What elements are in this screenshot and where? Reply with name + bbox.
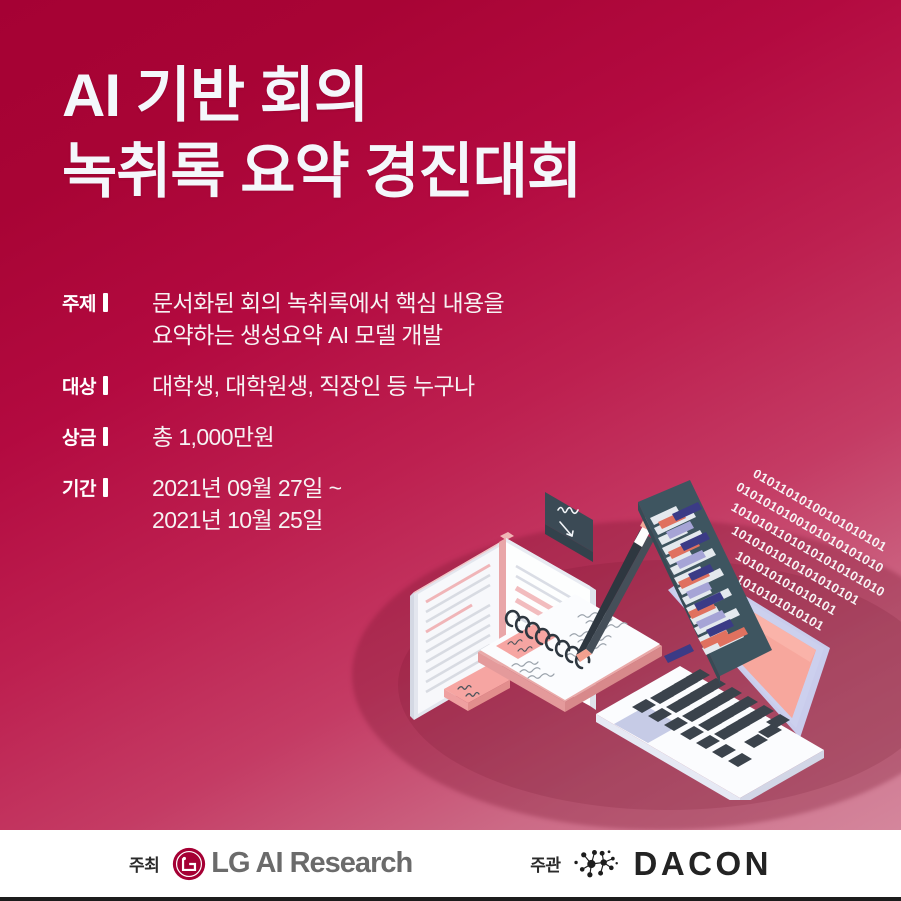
footer-organizer: 주관 (530, 845, 772, 883)
label-bar-icon (103, 293, 108, 312)
label-bar-icon (103, 478, 108, 497)
footer-host-tag: 주최 (129, 851, 159, 876)
info-label-prize: 상금 (62, 421, 138, 450)
title-line-1: AI 기반 회의 (62, 58, 822, 134)
poster-title: AI 기반 회의 녹취록 요약 경진대회 (62, 58, 822, 210)
lg-logo-icon (172, 847, 206, 881)
info-label-audience: 대상 (62, 370, 138, 399)
info-row-subject: 주제 문서화된 회의 녹취록에서 핵심 내용을 요약하는 생성요약 AI 모델 … (62, 287, 622, 351)
info-value-period: 2021년 09월 27일 ~ 2021년 10월 25일 (138, 472, 341, 536)
desk-illustration: 01011010100101010101 0101010100101010101… (400, 470, 901, 800)
poster-footer: 주최 LG AI Research 주관 (0, 830, 901, 901)
label-bar-icon (103, 376, 108, 395)
info-row-prize: 상금 총 1,000만원 (62, 421, 622, 453)
info-label-prize-text: 상금 (62, 423, 96, 450)
dacon-network-icon (573, 847, 619, 881)
info-label-audience-text: 대상 (62, 372, 96, 399)
poster: AI 기반 회의 녹취록 요약 경진대회 주제 문서화된 회의 녹취록에서 핵심… (0, 0, 901, 901)
info-value-audience: 대학생, 대학원생, 직장인 등 누구나 (138, 370, 475, 402)
info-row-audience: 대상 대학생, 대학원생, 직장인 등 누구나 (62, 370, 622, 402)
info-value-subject: 문서화된 회의 녹취록에서 핵심 내용을 요약하는 생성요약 AI 모델 개발 (138, 287, 504, 351)
info-label-subject: 주제 (62, 287, 138, 316)
footer-host: 주최 LG AI Research (129, 847, 412, 881)
info-label-period: 기간 (62, 472, 138, 501)
info-label-subject-text: 주제 (62, 289, 96, 316)
title-line-2: 녹취록 요약 경진대회 (62, 134, 822, 210)
footer-organizer-tag: 주관 (530, 851, 560, 876)
lg-wordmark: LG AI Research (211, 847, 412, 880)
label-bar-icon (103, 427, 108, 446)
dacon-wordmark: DACON (633, 845, 772, 883)
info-label-period-text: 기간 (62, 474, 96, 501)
info-value-prize: 총 1,000만원 (138, 421, 274, 453)
book-tag-icon (545, 492, 593, 562)
